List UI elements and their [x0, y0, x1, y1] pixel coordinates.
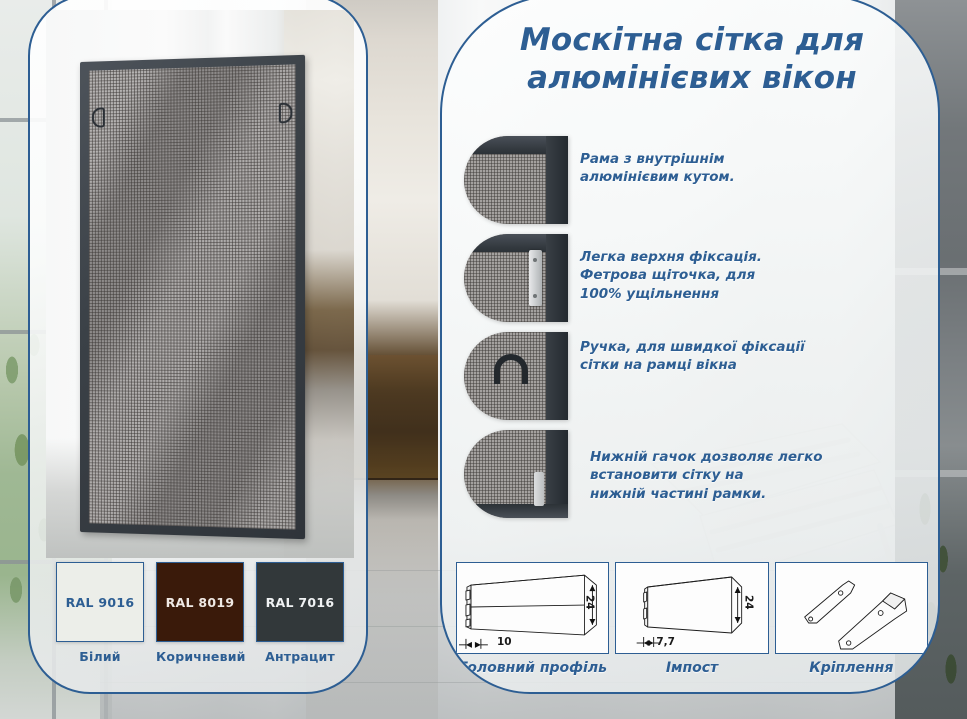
product-card: RAL 9016 Білий RAL 8019 Коричневий RAL 7… [28, 0, 368, 694]
tech-drawing-main-profile: 24 10 [456, 562, 609, 654]
page-title: Москітна сітка для алюмінієвих вікон [468, 22, 916, 98]
tech-drawing-impost: 24 7,7 [615, 562, 768, 654]
swatch-code: RAL 7016 [266, 595, 335, 610]
feature-text: Нижній гачок дозволяє легко встановити с… [580, 430, 823, 503]
felt-brush-strip-icon [529, 250, 542, 306]
swatch-code: RAL 8019 [166, 595, 235, 610]
tech-label: Головний профіль [456, 660, 609, 676]
feature-item-bottom-hook: Нижній гачок дозволяє легко встановити с… [464, 430, 926, 518]
swatch-box-white[interactable]: RAL 9016 [56, 562, 144, 642]
info-card: Москітна сітка для алюмінієвих вікон Рам… [440, 0, 940, 694]
swatch-name: Коричневий [156, 649, 244, 664]
tech-dim-height: 24 [743, 595, 755, 610]
feature-photo-bottom-hook [464, 430, 568, 518]
tech-dim-width: 10 [497, 636, 512, 648]
tech-drawing-row: 24 10 Головний профіль [456, 562, 928, 676]
swatch-code: RAL 9016 [66, 595, 135, 610]
feature-line: 100% ущільнення [580, 285, 762, 303]
tech-item-main-profile: 24 10 Головний профіль [456, 562, 609, 676]
product-photo [46, 10, 354, 558]
tech-drawing-mounting [775, 562, 928, 654]
feature-item-top-fixation-brush: Легка верхня фіксація. Фетрова щіточка, … [464, 234, 926, 322]
swatch-name: Білий [56, 649, 144, 664]
slide-canvas: RAL 9016 Білий RAL 8019 Коричневий RAL 7… [0, 0, 967, 719]
feature-photo-top-fixation [464, 234, 568, 322]
feature-text: Легка верхня фіксація. Фетрова щіточка, … [580, 234, 762, 303]
feature-list: Рама з внутрішнім алюмінієвим кутом. [464, 136, 926, 528]
feature-text: Ручка, для швидкої фіксації сітки на рам… [580, 332, 805, 375]
swatch-item[interactable]: RAL 8019 Коричневий [156, 562, 244, 664]
swatch-box-anthracite[interactable]: RAL 7016 [256, 562, 344, 642]
tech-label: Кріплення [775, 660, 928, 676]
feature-text: Рама з внутрішнім алюмінієвим кутом. [580, 136, 735, 187]
feature-line: Ручка, для швидкої фіксації [580, 338, 805, 356]
feature-line: Легка верхня фіксація. [580, 248, 762, 266]
feature-photo-frame-corner [464, 136, 568, 224]
color-swatch-row: RAL 9016 Білий RAL 8019 Коричневий RAL 7… [44, 562, 356, 664]
mosquito-net-panel [80, 55, 305, 539]
swatch-name: Антрацит [256, 649, 344, 664]
swatch-box-brown[interactable]: RAL 8019 [156, 562, 244, 642]
tech-item-mounting: Кріплення [775, 562, 928, 676]
page-title-text: Москітна сітка для алюмінієвих вікон [520, 22, 864, 96]
feature-line: сітки на рамці вікна [580, 356, 805, 374]
feature-line: нижній частині рамки. [590, 485, 823, 503]
grip-handle-icon [494, 354, 528, 384]
bottom-hook-icon [534, 472, 544, 506]
feature-item-frame-inner-corner: Рама з внутрішнім алюмінієвим кутом. [464, 136, 926, 224]
feature-line: Нижній гачок дозволяє легко [590, 448, 823, 466]
swatch-item[interactable]: RAL 7016 Антрацит [256, 562, 344, 664]
tech-dim-width: 7,7 [656, 636, 675, 648]
tech-item-impost: 24 7,7 Імпост [615, 562, 768, 676]
feature-photo-handle [464, 332, 568, 420]
feature-item-quick-fix-handle: Ручка, для швидкої фіксації сітки на рам… [464, 332, 926, 420]
feature-line: алюмінієвим кутом. [580, 168, 735, 186]
net-mesh [89, 64, 296, 529]
feature-line: Рама з внутрішнім [580, 150, 735, 168]
net-handle-left-icon [92, 107, 105, 127]
tech-label: Імпост [615, 660, 768, 676]
tech-dim-height: 24 [583, 595, 595, 610]
feature-line: встановити сітку на [590, 466, 823, 484]
feature-line: Фетрова щіточка, для [580, 266, 762, 284]
swatch-item[interactable]: RAL 9016 Білий [56, 562, 144, 664]
